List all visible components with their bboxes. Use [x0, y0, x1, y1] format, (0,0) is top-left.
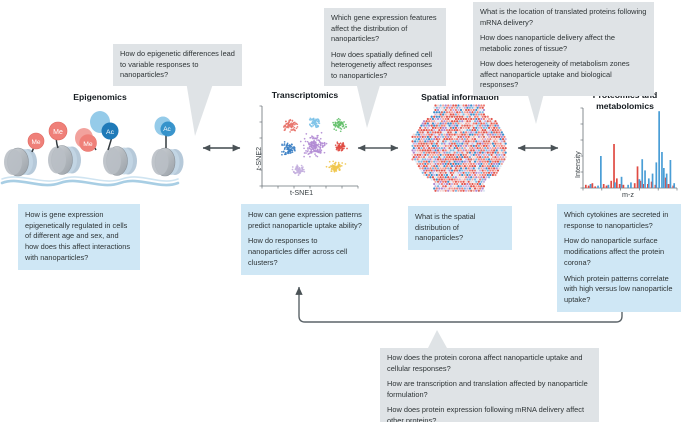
callout-transcriptomics-line-1: Which gene expression features affect th… [331, 13, 439, 45]
callout-epigenomics: How do epigenetic differences lead to va… [113, 44, 242, 86]
svg-text:Ac: Ac [106, 129, 115, 136]
callout-spatial-line-2: How does nanoparticle delivery affect th… [480, 33, 647, 54]
svg-text:Me: Me [53, 129, 63, 136]
axis-label-tsne1: t-SNE1 [290, 188, 313, 197]
answer-transcriptomics: How can gene expression patterns predict… [241, 204, 369, 275]
panel-title-epigenomics: Epigenomics [30, 92, 170, 103]
callout-bottom-line-2: How are transcription and translation af… [387, 379, 592, 400]
axis-label-mz: m-z [622, 190, 634, 199]
answer-proteomics-line-2: How do nanoparticle surface modification… [564, 236, 674, 268]
axis-label-tsne2: t-SNE2 [254, 147, 263, 170]
answer-epigenomics: How is gene expression epigenetically re… [18, 204, 140, 270]
answer-proteomics-line-3: Which protein patterns correlate with hi… [564, 274, 674, 306]
panel-title-transcriptomics: Transcriptomics [250, 90, 360, 101]
panel-title-proteomics-line2: metabolomics [570, 101, 680, 112]
callout-transcriptomics-line-2: How does spatially defined cell heteroge… [331, 50, 439, 82]
callout-bottom-line-3: How does protein expression following mR… [387, 405, 592, 422]
axis-label-intensity: Intensity [573, 151, 582, 178]
svg-text:Ac: Ac [163, 126, 171, 133]
answer-spatial-line-1: What is the spatial distribution of nano… [415, 212, 505, 244]
answer-transcriptomics-line-1: How can gene expression patterns predict… [248, 210, 362, 231]
callout-spatial-proteomics: What is the location of translated prote… [473, 2, 654, 96]
answer-epigenomics-line-1: How is gene expression epigenetically re… [25, 210, 133, 264]
answer-proteomics: Which cytokines are secreted in response… [557, 204, 681, 312]
answer-spatial: What is the spatial distribution of nano… [408, 206, 512, 250]
answer-proteomics-line-1: Which cytokines are secreted in response… [564, 210, 674, 231]
callout-spatial-line-1: What is the location of translated prote… [480, 7, 647, 28]
svg-text:Me: Me [83, 141, 93, 148]
callout-bottom: How does the protein corona affect nanop… [380, 348, 599, 422]
omics-questions-figure: Epigenomics [0, 0, 685, 422]
svg-text:Me: Me [31, 139, 40, 146]
callout-bottom-line-1: How does the protein corona affect nanop… [387, 353, 592, 374]
callout-transcriptomics: Which gene expression features affect th… [324, 8, 446, 86]
callout-epigenomics-line-1: How do epigenetic differences lead to va… [120, 49, 235, 81]
answer-transcriptomics-line-2: How do responses to nanoparticles differ… [248, 236, 362, 268]
callout-spatial-line-3: How does heterogeneity of metabolism zon… [480, 59, 647, 91]
